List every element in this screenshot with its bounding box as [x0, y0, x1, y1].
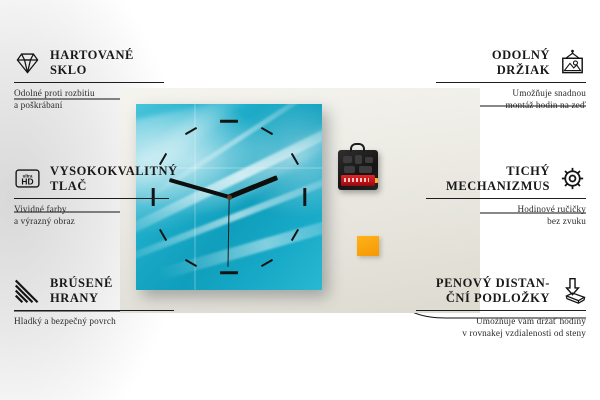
- clock-tick: [220, 120, 238, 123]
- feature-sub-line1: Umožňuje snadnou: [436, 88, 586, 100]
- clock-mechanism: [338, 150, 378, 190]
- feature-silent-mechanism: TICHÝ MECHANIZMUS Hodinové ručič: [426, 164, 586, 227]
- feature-title-line2: HRANY: [50, 291, 113, 306]
- feature-title-line1: PENOVÝ DISTAN-: [436, 276, 550, 291]
- clock-tick: [261, 259, 273, 267]
- feature-sub-line2: montáž hodin na zeď: [436, 100, 586, 112]
- feature-sub-line2: a poškrábaní: [14, 100, 164, 112]
- feature-title-line2: MECHANIZMUS: [446, 179, 550, 194]
- feature-sub-line2: v rovnakej vzdialenosti od steny: [416, 328, 586, 340]
- feature-description: Vividné farby a výrazný obraz: [14, 204, 169, 227]
- mechanism-detail: [359, 166, 372, 173]
- feature-title: VYSOKOKVALITNÝ TLAČ: [50, 164, 178, 193]
- feature-sub-line2: bez zvuku: [426, 216, 586, 228]
- divider: [14, 198, 169, 199]
- foam-pad-icon: [559, 277, 586, 304]
- feature-title-line2: DRŽIAK: [492, 63, 550, 78]
- mechanism-hanger-hook: [350, 143, 365, 152]
- feature-title: ODOLNÝ DRŽIAK: [492, 48, 550, 77]
- diamond-icon: [14, 49, 41, 76]
- feature-description: Hodinové ručičky bez zvuku: [426, 204, 586, 227]
- feature-title: BRÚSENÉ HRANY: [50, 276, 113, 305]
- feature-sub-line1: Odolné proti rozbitiu: [14, 88, 164, 100]
- feature-title-line1: VYSOKOKVALITNÝ: [50, 164, 178, 179]
- divider: [14, 310, 174, 311]
- feature-beveled-edges: BRÚSENÉ HRANY Hladký a bezpečný povrch: [14, 276, 174, 328]
- clock-tick: [304, 188, 307, 206]
- feature-title-line2: SKLO: [50, 63, 134, 78]
- feature-description: Umožňuje snadnou montáž hodin na zeď: [436, 88, 586, 111]
- feature-sub-line1: Umožňuje vám držať hodiny: [416, 316, 586, 328]
- feature-description: Umožňuje vám držať hodiny v rovnakej vzd…: [416, 316, 586, 339]
- divider: [426, 198, 586, 199]
- feature-title-line1: ODOLNÝ: [492, 48, 550, 63]
- feature-header: ultra HD VYSOKOKVALITNÝ TLAČ: [14, 164, 169, 193]
- clock-center-hub: [227, 195, 232, 200]
- feature-sub-line1: Vividné farby: [14, 204, 169, 216]
- feature-sub-line1: Hladký a bezpečný povrch: [14, 316, 174, 328]
- ultra-hd-icon: ultra HD: [14, 165, 41, 192]
- foam-spacer-pad: [357, 236, 379, 256]
- feature-high-quality-print: ultra HD VYSOKOKVALITNÝ TLAČ Vividné far…: [14, 164, 169, 227]
- feature-description: Odolné proti rozbitiu a poškrábaní: [14, 88, 164, 111]
- infographic-stage: HARTOVANÉ SKLO Odolné proti rozbitiu a p…: [0, 0, 600, 400]
- feature-title-line2: TLAČ: [50, 179, 178, 194]
- mechanism-detail: [343, 156, 352, 163]
- divider: [436, 82, 586, 83]
- mechanism-detail: [365, 157, 373, 163]
- feature-header: PENOVÝ DISTAN- ČNÍ PODLOŽKY: [416, 276, 586, 305]
- mechanism-detail: [344, 166, 355, 173]
- feature-description: Hladký a bezpečný povrch: [14, 316, 174, 328]
- battery-label: [344, 178, 369, 182]
- feature-title-line1: TICHÝ: [446, 164, 550, 179]
- feature-header: TICHÝ MECHANIZMUS: [426, 164, 586, 193]
- feature-title: HARTOVANÉ SKLO: [50, 48, 134, 77]
- feature-header: ODOLNÝ DRŽIAK: [436, 48, 586, 77]
- feature-sub-line2: a výrazný obraz: [14, 216, 169, 228]
- glass-reflection-seam: [194, 104, 196, 290]
- gear-icon: [559, 165, 586, 192]
- divider: [416, 310, 586, 311]
- feature-title-line1: BRÚSENÉ: [50, 276, 113, 291]
- feature-durable-hanger: ODOLNÝ DRŽIAK Umožňuje snadnou montáž ho…: [436, 48, 586, 111]
- feature-header: BRÚSENÉ HRANY: [14, 276, 174, 305]
- feature-title: PENOVÝ DISTAN- ČNÍ PODLOŽKY: [436, 276, 550, 305]
- divider: [14, 82, 164, 83]
- feature-sub-line1: Hodinové ručičky: [426, 204, 586, 216]
- beveled-edges-icon: [14, 277, 41, 304]
- mechanism-battery: [341, 175, 375, 186]
- feature-hardened-glass: HARTOVANÉ SKLO Odolné proti rozbitiu a p…: [14, 48, 164, 111]
- feature-foam-spacers: PENOVÝ DISTAN- ČNÍ PODLOŽKY Umožňuje vám…: [416, 276, 586, 339]
- svg-text:HD: HD: [21, 177, 33, 187]
- clock-tick: [220, 272, 238, 275]
- feature-title-line2: ČNÍ PODLOŽKY: [436, 291, 550, 306]
- wall-hanger-icon: [559, 49, 586, 76]
- feature-title-line1: HARTOVANÉ: [50, 48, 134, 63]
- mechanism-detail: [355, 155, 362, 164]
- feature-title: TICHÝ MECHANIZMUS: [446, 164, 550, 193]
- feature-header: HARTOVANÉ SKLO: [14, 48, 164, 77]
